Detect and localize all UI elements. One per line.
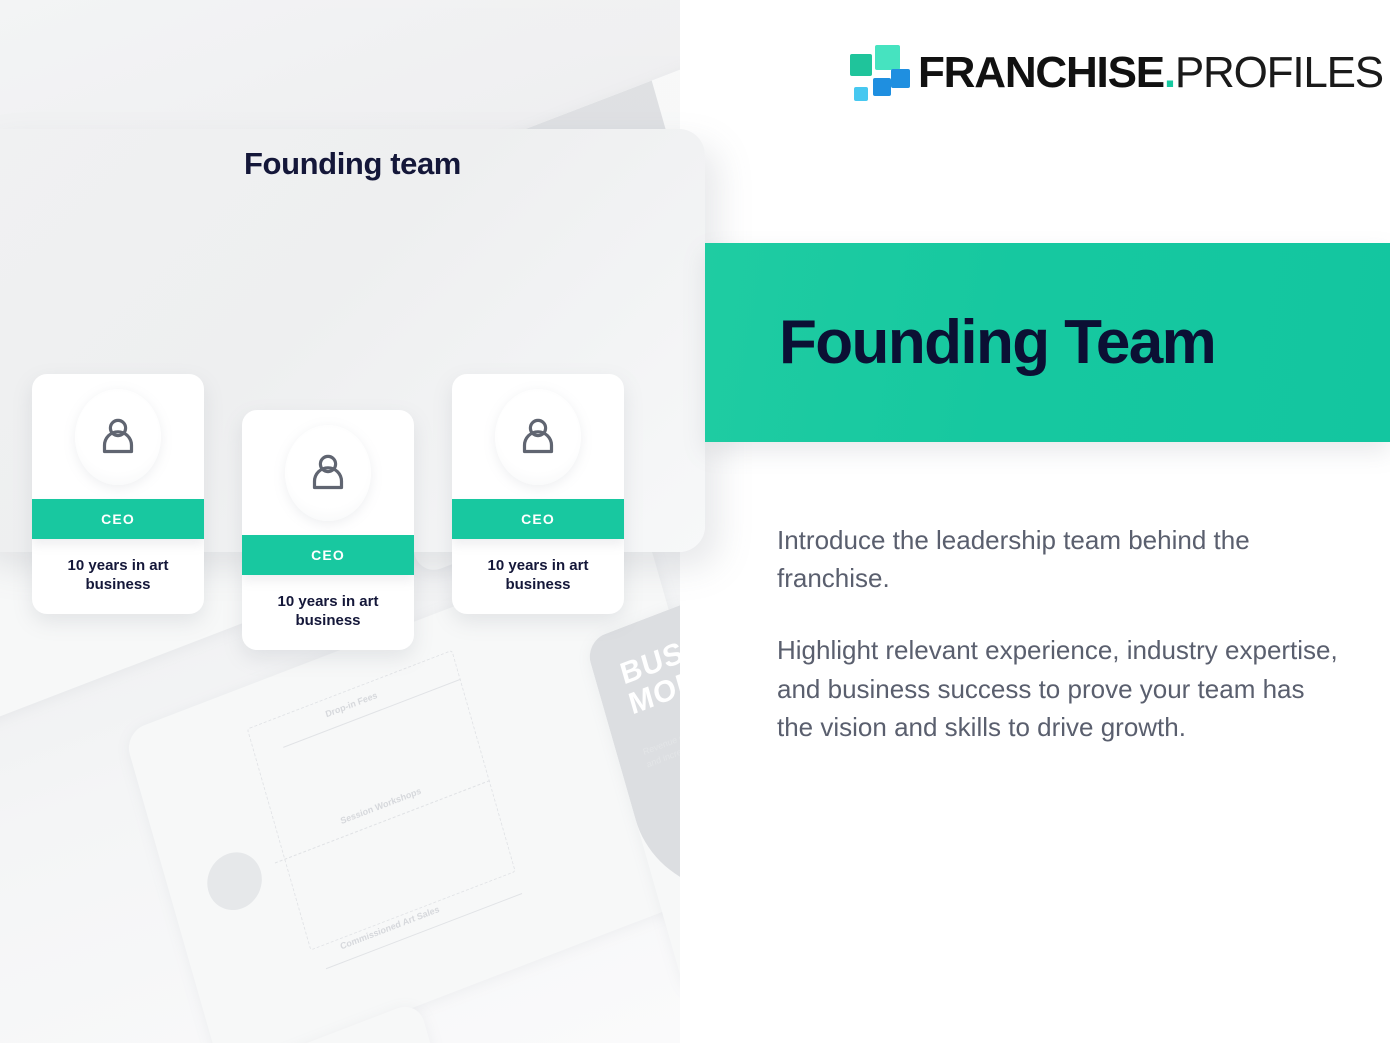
title-banner: Founding Team [705,243,1390,442]
slide-root: NAME Investor pitch deck MARKET Growing … [0,0,1390,1043]
logo-word-franchise: FRANCHISE [918,48,1164,97]
team-member-card[interactable]: CEO 10 years in art business [32,374,204,614]
logo-mark-icon [848,42,904,104]
person-icon [516,415,560,459]
avatar-wrap [32,374,204,499]
avatar-wrap [242,410,414,535]
logo-word-profiles: PROFILES [1175,48,1383,97]
page-title: Founding Team [779,312,1215,374]
avatar [285,425,371,521]
founding-team-panel-title: Founding team [0,146,705,182]
founding-team-panel: Founding team CEO 10 years in art busine… [0,129,705,552]
description-paragraph-2: Highlight relevant experience, industry … [777,631,1342,746]
square-teal-dark [850,54,872,76]
experience-text: 10 years in art business [32,539,204,614]
role-badge: CEO [242,535,414,575]
role-badge: CEO [32,499,204,539]
avatar [75,389,161,485]
brand-logo[interactable]: FRANCHISE.PROFILES [848,40,1383,106]
team-member-card[interactable]: CEO 10 years in art business [242,410,414,650]
square-blue [873,78,891,96]
deck-revenue-coin-icon [201,844,269,918]
logo-word-dot: . [1164,48,1175,97]
person-icon [306,451,350,495]
role-badge: CEO [452,499,624,539]
experience-text: 10 years in art business [242,575,414,650]
description-block: Introduce the leadership team behind the… [777,521,1342,746]
experience-text: 10 years in art business [452,539,624,614]
team-member-card[interactable]: CEO 10 years in art business [452,374,624,614]
square-blue-right [891,69,910,88]
avatar-wrap [452,374,624,499]
logo-wordmark: FRANCHISE.PROFILES [918,51,1383,95]
description-paragraph-1: Introduce the leadership team behind the… [777,521,1342,597]
square-cyan-small [854,87,868,101]
person-icon [96,415,140,459]
square-mint [875,45,900,70]
avatar [495,389,581,485]
